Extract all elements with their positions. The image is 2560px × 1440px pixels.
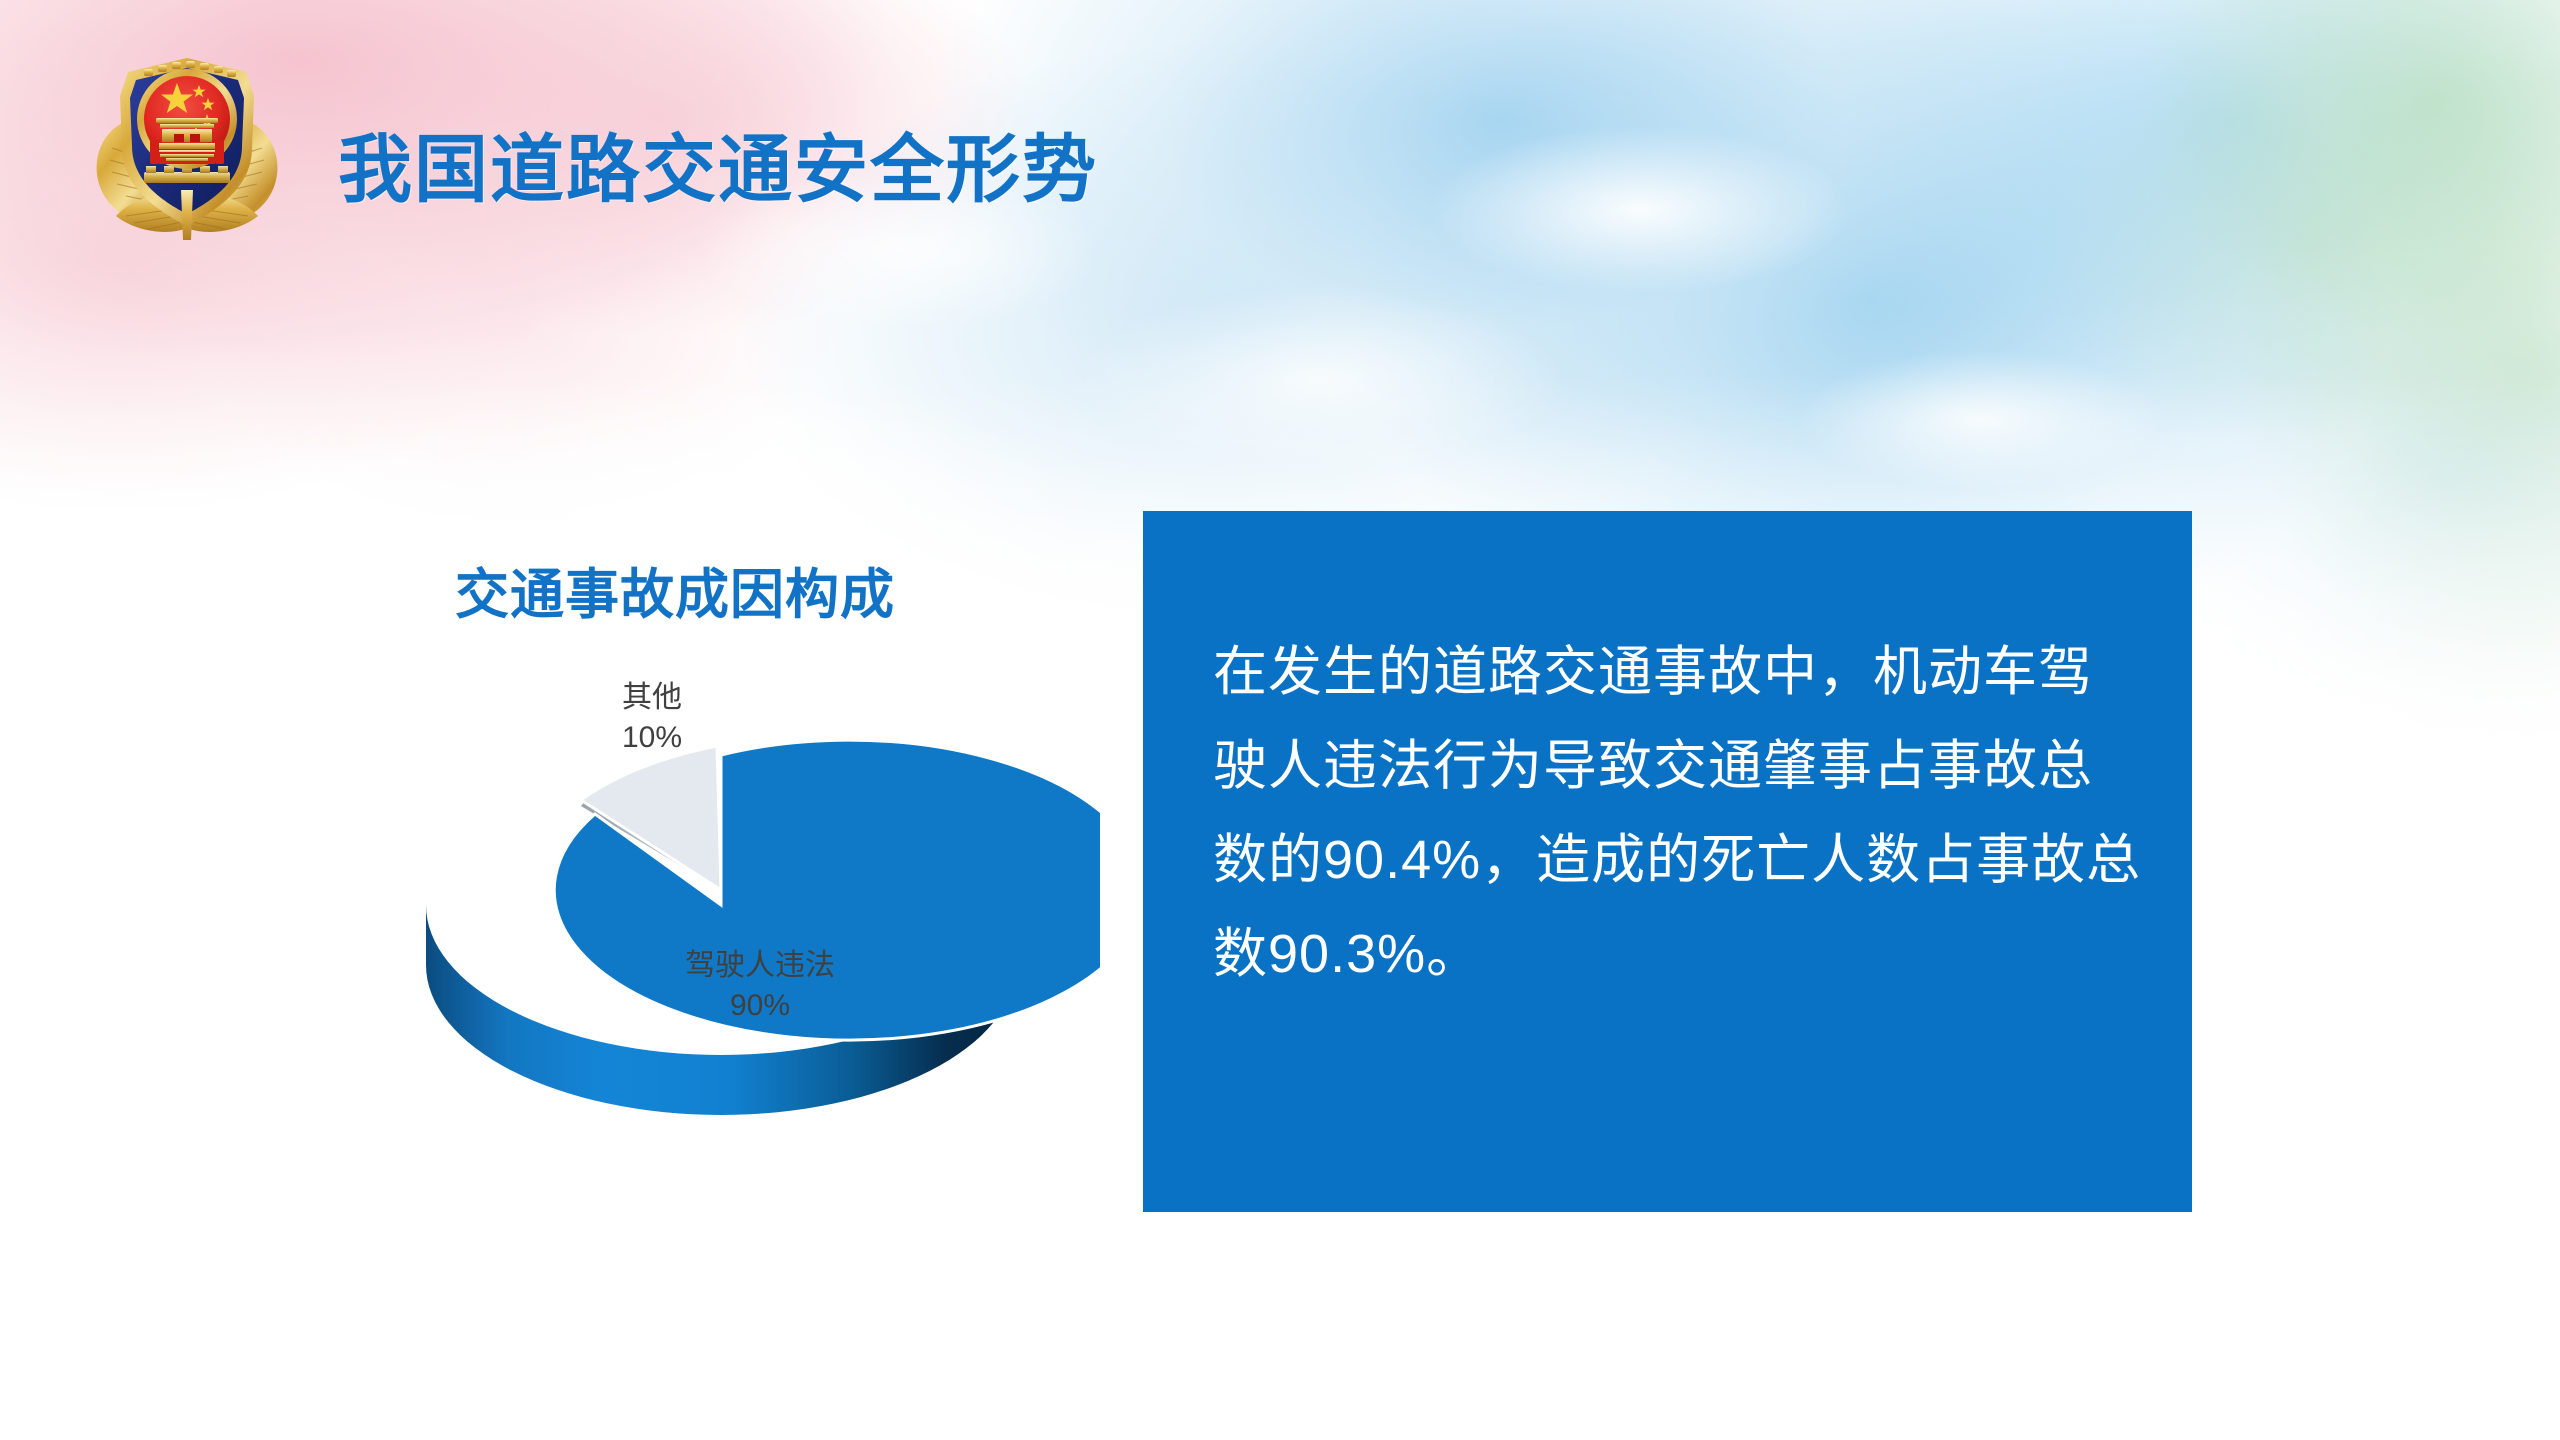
china-police-badge-icon bbox=[82, 40, 292, 245]
pie-label-other-name: 其他 bbox=[572, 678, 732, 718]
presentation-slide: 我国道路交通安全形势 交通事故成因构成 bbox=[0, 0, 2560, 1440]
pie-data-label-other: 其他 10% bbox=[572, 678, 732, 758]
pie-chart bbox=[400, 660, 1100, 1160]
pie-label-driver-name: 驾驶人违法 bbox=[620, 946, 900, 986]
pie-label-driver-percent: 90% bbox=[620, 986, 900, 1026]
pie-data-label-driver: 驾驶人违法 90% bbox=[620, 946, 900, 1026]
page-title: 我国道路交通安全形势 bbox=[338, 110, 1098, 217]
chart-title: 交通事故成因构成 bbox=[455, 550, 895, 629]
info-panel-text: 在发生的道路交通事故中，机动车驾驶人违法行为导致交通肇事占事故总数的90.4%，… bbox=[1213, 625, 2143, 1001]
pie-label-other-percent: 10% bbox=[572, 718, 732, 758]
